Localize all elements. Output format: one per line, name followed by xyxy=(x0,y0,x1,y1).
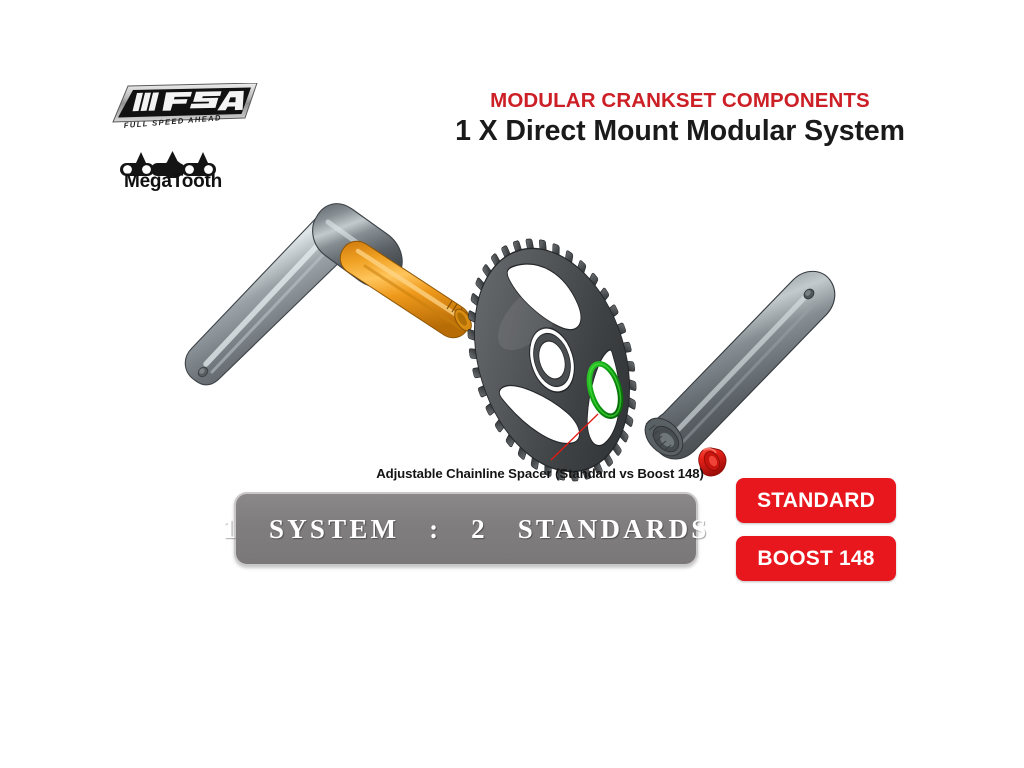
page-title: 1 X Direct Mount Modular System xyxy=(400,115,960,148)
callout-leader-line xyxy=(551,414,598,460)
blue-spacer-ring xyxy=(473,295,511,348)
spacer-callout-label: Adjustable Chainline Spacer (Standard vs… xyxy=(330,466,750,481)
standard-button-label: STANDARD xyxy=(757,489,875,513)
boost-148-button[interactable]: BOOST 148 xyxy=(736,536,896,581)
standard-button[interactable]: STANDARD xyxy=(736,478,896,523)
right-crank-arm xyxy=(638,271,835,463)
tagline-banner: 1 SYSTEM : 2 STANDARDS xyxy=(234,492,698,566)
slide-canvas: FULL SPEED AHEAD MegaTooth MODULAR CRANK… xyxy=(0,0,1024,768)
left-crank-arm xyxy=(185,204,474,385)
megatooth-chainring xyxy=(440,218,664,502)
megatooth-wordmark: MegaTooth xyxy=(110,171,236,193)
page-eyebrow: MODULAR CRANKSET COMPONENTS xyxy=(420,89,940,113)
fsa-logo: FULL SPEED AHEAD xyxy=(112,83,258,133)
green-spacer-ring xyxy=(584,360,627,420)
tagline-text: 1 SYSTEM : 2 STANDARDS xyxy=(222,514,709,545)
boost-148-button-label: BOOST 148 xyxy=(757,547,874,571)
